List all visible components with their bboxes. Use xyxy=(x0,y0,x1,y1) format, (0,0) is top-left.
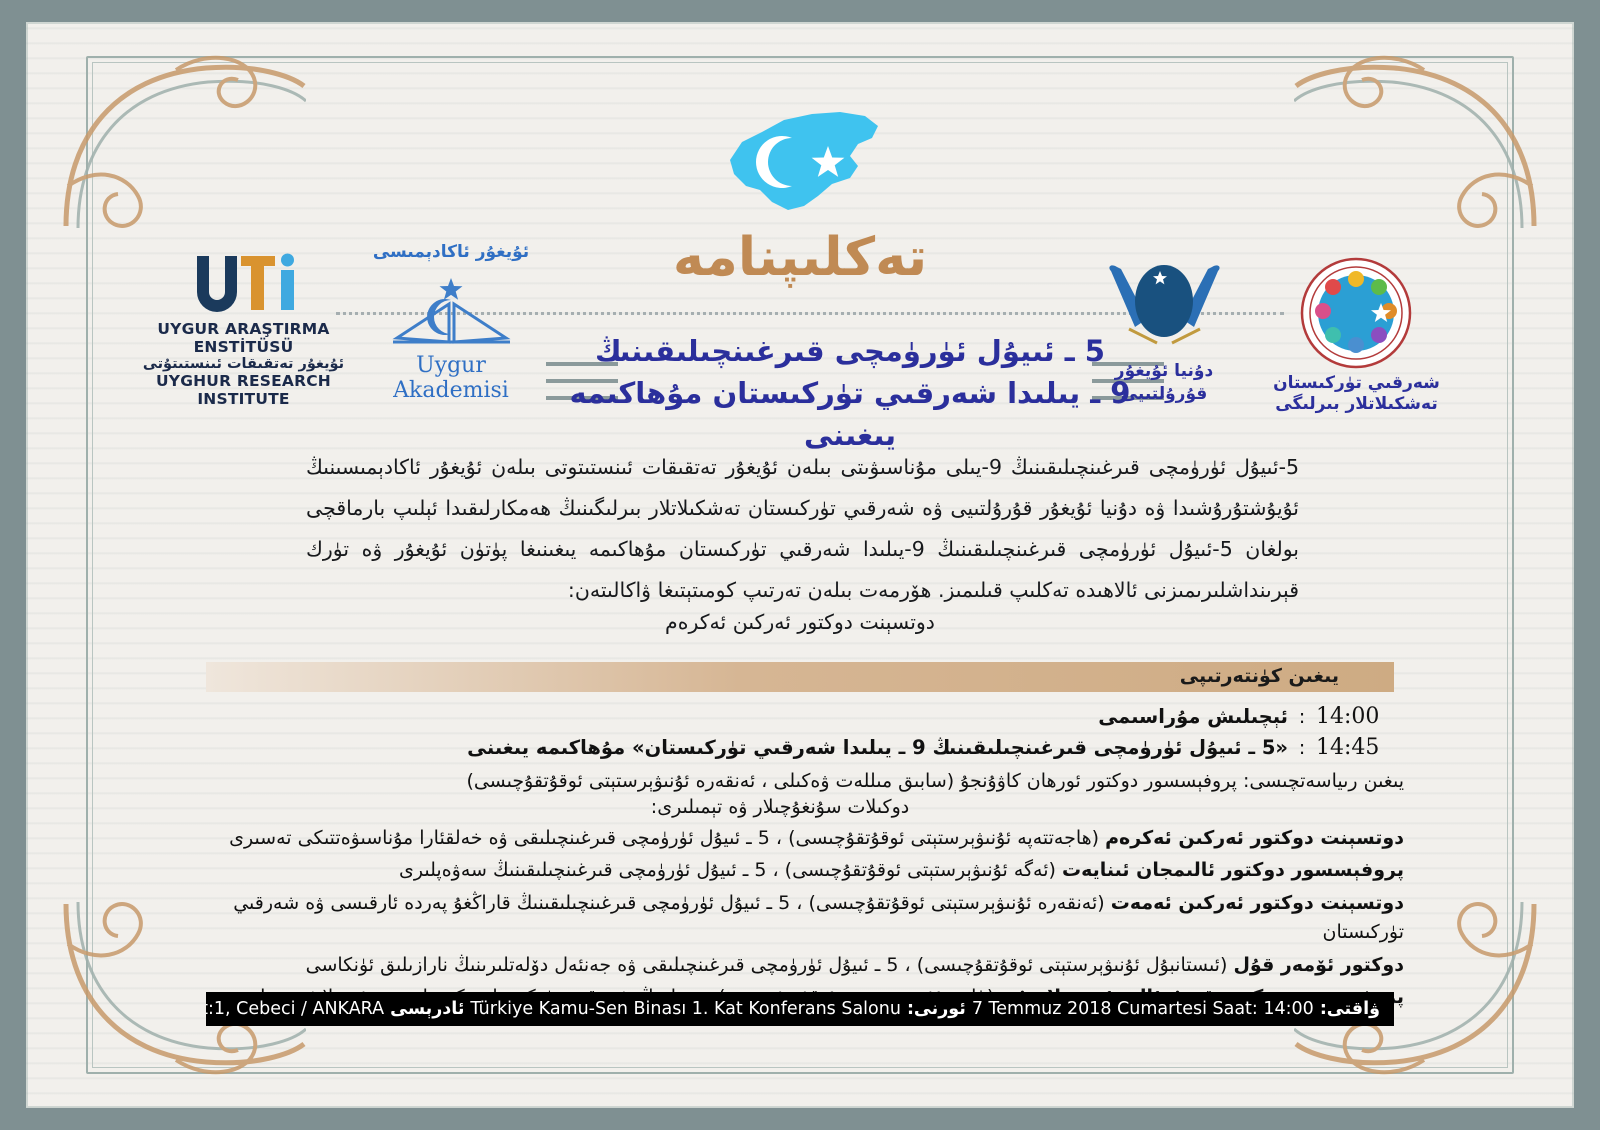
agenda-row-time: 14:45 xyxy=(1316,735,1404,760)
footer-time-value: 7 Temmuz 2018 Cumartesi Saat: 14:00 xyxy=(972,992,1314,1026)
logo-uygur-akademisi: ئۇيغۇر ئاكادېمىسى Uygur Akademisi xyxy=(356,242,546,403)
speaker-entry: دوتسېنت دوكتور ئەركىن ئەكرەم (ھاجەتتەپە … xyxy=(156,824,1404,853)
agenda-speaker-list: دوتسېنت دوكتور ئەركىن ئەكرەم (ھاجەتتەپە … xyxy=(156,824,1404,1013)
akademi-name-uyghur: ئۇيغۇر ئاكادېمىسى xyxy=(356,242,546,262)
two-flags-crest-icon xyxy=(1069,257,1259,359)
agenda-chairperson: يىغىن رىياسەتچىسى: پروفېسسور دوكتور ئورھ… xyxy=(156,770,1404,792)
uti-name-english: UYGHUR RESEARCH INSTITUTE xyxy=(136,372,351,408)
speaker-entry: دوكتور ئۆمەر قۇل (ئىستانبۇل ئۇنىۋېرستېتى… xyxy=(156,951,1404,980)
agenda-speakers-lead: دوكىلات سۇنغۇچىلار ۋە تېمىلىرى: xyxy=(156,796,1404,818)
poster-frame-outer: تەكلىپنامە 5 ـ ئىيۇل ئۈرۈمچى قىرغىنچىلىق… xyxy=(26,22,1574,1108)
event-details-bar: ۋاقتى: 7 Temmuz 2018 Cumartesi Saat: 14:… xyxy=(206,992,1394,1026)
speaker-topic: ، 5 ـ ئىيۇل ئۈرۈمچى قىرغىنچىلىقى ۋە خەلق… xyxy=(229,827,782,849)
agenda-section-header: يىغىن كۈنتەرتىپى xyxy=(206,662,1394,692)
footer-address-value: Talatpaşa Bulvarı, No: 160, Kat:1, Cebec… xyxy=(206,992,384,1026)
footer-address-label: ئادرېسى xyxy=(390,992,464,1026)
wuc-caption-line1: دۇنيا ئۇيغۇر xyxy=(1069,361,1259,382)
speaker-name: دوتسېنت دوكتور ئەركىن ئەمەت xyxy=(1111,892,1404,914)
speaker-affiliation: (ھاجەتتەپە ئۇنىۋېرستېتى ئوقۇتقۇچىسى) xyxy=(788,827,1099,849)
agenda-list: 14:00 : ئېچىلىش مۇراسىمى 14:45 : «5 ـ ئى… xyxy=(156,704,1404,1016)
agenda-row-time: 14:00 xyxy=(1316,704,1404,729)
agenda-row-colon: : xyxy=(1288,705,1316,728)
speaker-affiliation: (ئىستانبۇل ئۇنىۋېرستېتى ئوقۇتقۇچىسى) xyxy=(917,954,1228,976)
speaker-name: دوكتور ئۆمەر قۇل xyxy=(1233,954,1404,976)
dtb-seal-icon xyxy=(1259,257,1454,373)
logo-dogu-turkistan-teskilatlar-birligi: شەرقىي تۈركىستان تەشكىلاتلار بىرلىگى xyxy=(1259,257,1454,416)
logo-uyghur-research-institute: UYGUR ARAŞTIRMA ENSTİTÜSÜ ئۇيغۇر تەتقىقا… xyxy=(136,252,351,408)
agenda-row: 14:45 : «5 ـ ئىيۇل ئۈرۈمچى قىرغىنچىلىقىن… xyxy=(156,735,1404,760)
open-book-crescent-star-icon xyxy=(356,264,546,353)
uti-name-turkish: UYGUR ARAŞTIRMA ENSTİTÜSÜ xyxy=(136,320,351,356)
dtb-caption-line2: تەشكىلاتلار بىرلىگى xyxy=(1259,394,1454,415)
invitation-body: 5-ئىيۇل ئۈرۈمچى قىرغىنچىلىقىنىڭ 9-يىلى م… xyxy=(306,447,1299,611)
logo-world-uyghur-congress: دۇنيا ئۇيغۇر قۇرۇلتىيى xyxy=(1069,257,1259,406)
poster-root: تەكلىپنامە 5 ـ ئىيۇل ئۈرۈمچى قىرغىنچىلىق… xyxy=(0,0,1600,1130)
footer-time-label: ۋاقتى: xyxy=(1320,992,1380,1026)
speaker-entry: دوتسېنت دوكتور ئەركىن ئەمەت (ئەنقەرە ئۇن… xyxy=(156,889,1404,948)
agenda-row-text: ئېچىلىش مۇراسىمى xyxy=(156,705,1288,728)
speaker-name: پروفېسسور دوكتور ئالىمجان ئىنايەت xyxy=(1062,859,1404,881)
agenda-row: 14:00 : ئېچىلىش مۇراسىمى xyxy=(156,704,1404,729)
wuc-caption-line2: قۇرۇلتىيى xyxy=(1069,384,1259,405)
poster-content: تەكلىپنامە 5 ـ ئىيۇل ئۈرۈمچى قىرغىنچىلىق… xyxy=(106,62,1494,1068)
akademi-name-latin: Uygur Akademisi xyxy=(356,353,546,403)
east-turkistan-map-icon xyxy=(106,102,1494,226)
agenda-row-text: «5 ـ ئىيۇل ئۈرۈمچى قىرغىنچىلىقىنىڭ 9 ـ ي… xyxy=(156,736,1288,759)
footer-venue-label: ئورنى: xyxy=(907,992,966,1026)
speaker-entry: پروفېسسور دوكتور ئالىمجان ئىنايەت (ئەگە … xyxy=(156,856,1404,885)
speaker-affiliation: (ئەگە ئۇنىۋېرستېتى ئوقۇتقۇچىسى) xyxy=(785,859,1056,881)
uti-name-uyghur: ئۇيغۇر تەتقىقات ئىنستىتۇتى xyxy=(136,356,351,372)
speaker-topic: ، 5 ـ ئىيۇل ئۈرۈمچى قىرغىنچىلىقى ۋە جەنئ… xyxy=(306,954,911,976)
agenda-row-colon: : xyxy=(1288,736,1316,759)
footer-venue-value: Türkiye Kamu-Sen Binası 1. Kat Konferans… xyxy=(470,992,901,1026)
invitation-signature: دوتسېنت دوكتور ئەركىن ئەكرەم xyxy=(106,610,1494,634)
uti-monogram-icon xyxy=(136,252,351,314)
speaker-affiliation: (ئەنقەرە ئۇنىۋېرستېتى ئوقۇتقۇچىسى) xyxy=(808,892,1104,914)
dtb-caption-line1: شەرقىي تۈركىستان xyxy=(1259,373,1454,394)
agenda-section-header-label: يىغىن كۈنتەرتىپى xyxy=(1180,662,1394,687)
speaker-name: دوتسېنت دوكتور ئەركىن ئەكرەم xyxy=(1105,827,1404,849)
speaker-topic: ، 5 ـ ئىيۇل ئۈرۈمچى قىرغىنچىلىقىنىڭ سەۋە… xyxy=(399,859,779,881)
